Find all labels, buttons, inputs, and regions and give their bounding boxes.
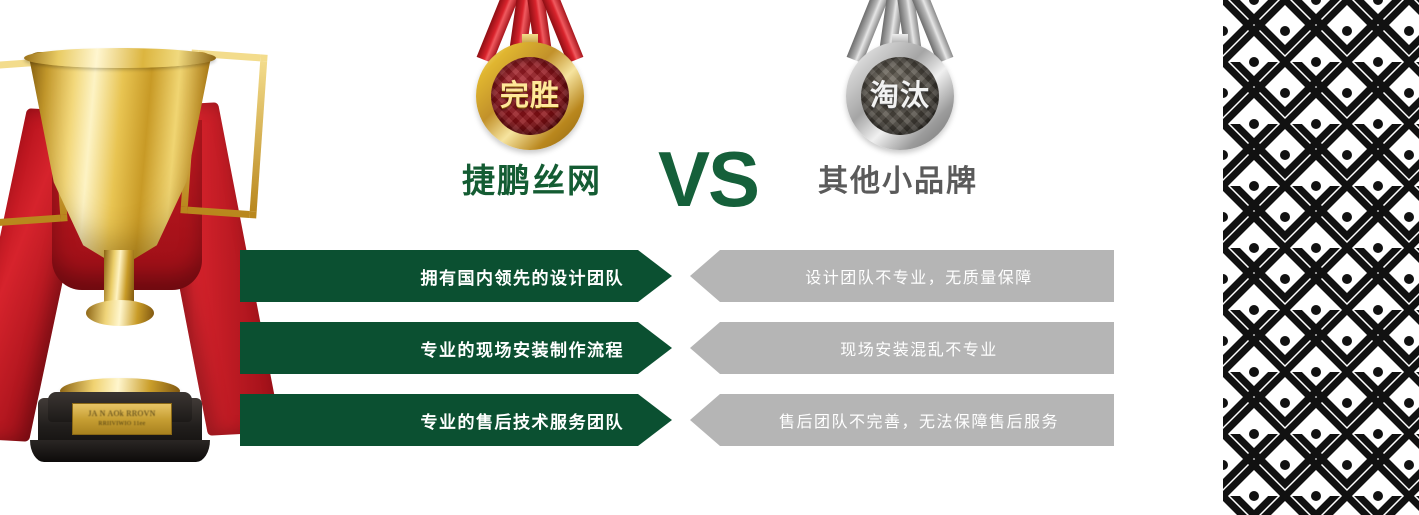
trophy-plaque-line2: RRIIVIWIO 11ee [98, 419, 145, 429]
drawback-arrow-1: 设计团队不专业，无质量保障 [690, 250, 1114, 302]
trophy-plaque-line1: JA N AOk RROVN [88, 409, 156, 419]
silver-medal-label: 淘汰 [870, 82, 930, 111]
advantage-label-2: 专业的现场安装制作流程 [421, 336, 625, 361]
trophy-knob [86, 300, 154, 326]
gold-medal-label: 完胜 [500, 82, 560, 111]
comparison-row: 拥有国内领先的设计团队 设计团队不专业，无质量保障 [240, 250, 1120, 302]
advantage-arrow-2: 专业的现场安装制作流程 [240, 322, 672, 374]
brand-versus-row: 捷鹏丝网 VS 其他小品牌 [440, 140, 1020, 212]
versus-mark: VS [658, 134, 758, 225]
comparison-row: 专业的售后技术服务团队 售后团队不完善，无法保障售后服务 [240, 394, 1120, 446]
advantage-label-3: 专业的售后技术服务团队 [421, 408, 625, 433]
comparison-list: 拥有国内领先的设计团队 设计团队不专业，无质量保障 专业的现场安装制作流程 现场… [240, 250, 1120, 466]
silver-medal-icon: 淘汰 [832, 0, 968, 126]
trophy-plaque: JA N AOk RROVN RRIIVIWIO 11ee [72, 403, 172, 435]
gold-medal-disc: 完胜 [476, 42, 584, 150]
silver-medal-face: 淘汰 [861, 57, 939, 135]
advantage-label-1: 拥有国内领先的设计团队 [421, 264, 625, 289]
gold-medal-icon: 完胜 [462, 0, 598, 126]
comparison-row: 专业的现场安装制作流程 现场安装混乱不专业 [240, 322, 1120, 374]
gold-medal-face: 完胜 [491, 57, 569, 135]
drawback-arrow-3: 售后团队不完善，无法保障售后服务 [690, 394, 1114, 446]
competitor-brand-name: 其他小品牌 [818, 156, 978, 200]
trophy-base-foot [30, 440, 210, 462]
drawback-label-2: 现场安装混乱不专业 [840, 336, 998, 360]
drawback-arrow-2: 现场安装混乱不专业 [690, 322, 1114, 374]
our-brand-name: 捷鹏丝网 [462, 154, 602, 202]
drawback-label-1: 设计团队不专业，无质量保障 [805, 264, 1033, 288]
advantage-arrow-1: 拥有国内领先的设计团队 [240, 250, 672, 302]
silver-medal-disc: 淘汰 [846, 42, 954, 150]
comparison-banner: JA N AOk RROVN RRIIVIWIO 11ee 完胜 [0, 0, 1419, 515]
trophy-rim [24, 48, 216, 68]
chain-link-fence-pattern [1223, 0, 1419, 515]
advantage-arrow-3: 专业的售后技术服务团队 [240, 394, 672, 446]
drawback-label-3: 售后团队不完善，无法保障售后服务 [779, 408, 1059, 432]
